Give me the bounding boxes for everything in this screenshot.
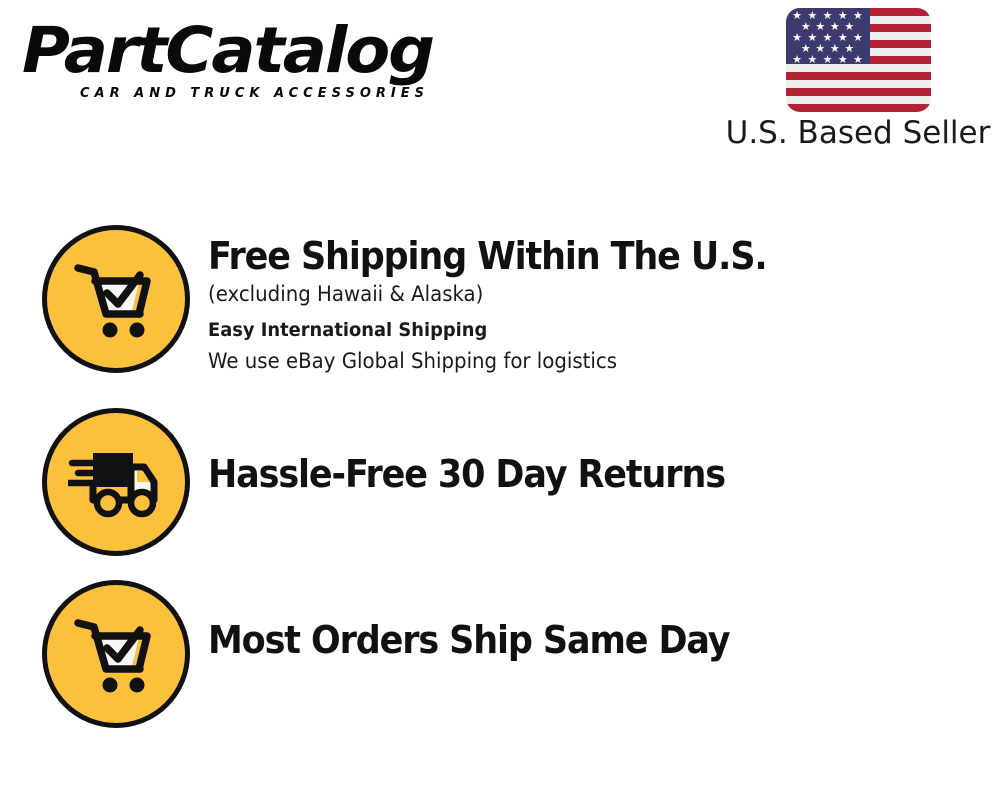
us-based-seller-badge: ★★★★★ ★★★★ ★★★★★ ★★★★ ★★★★★ U.S. Based S…	[728, 8, 988, 152]
brand-logo[interactable]: PartCatalog CAR AND TRUCK ACCESSORIES	[22, 18, 492, 116]
brand-tagline: CAR AND TRUCK ACCESSORIES	[80, 86, 492, 102]
feature-text-block: Most Orders Ship Same Day	[190, 575, 1000, 663]
feature-text-block: Hassle-Free 30 Day Returns	[190, 403, 1000, 497]
feature-subtitle: (excluding Hawaii & Alaska)	[208, 279, 952, 309]
shopping-cart-check-icon	[42, 580, 190, 728]
flag-canton: ★★★★★ ★★★★ ★★★★★ ★★★★ ★★★★★	[786, 8, 870, 64]
feature-title: Free Shipping Within The U.S.	[208, 233, 937, 279]
list-item: Most Orders Ship Same Day	[0, 575, 1000, 725]
feature-sub-detail: We use eBay Global Shipping for logistic…	[208, 346, 952, 376]
shopping-cart-check-icon	[42, 225, 190, 373]
delivery-truck-icon	[42, 408, 190, 556]
feature-list: Free Shipping Within The U.S. (excluding…	[0, 225, 1000, 725]
list-item: Hassle-Free 30 Day Returns	[0, 403, 1000, 575]
feature-title: Most Orders Ship Same Day	[208, 617, 937, 663]
us-flag-icon: ★★★★★ ★★★★ ★★★★★ ★★★★ ★★★★★	[786, 8, 931, 112]
feature-text-block: Free Shipping Within The U.S. (excluding…	[190, 225, 1000, 376]
feature-sub-heading: Easy International Shipping	[208, 315, 952, 346]
brand-wordmark: PartCatalog	[22, 18, 511, 84]
us-based-seller-label: U.S. Based Seller	[726, 114, 991, 152]
list-item: Free Shipping Within The U.S. (excluding…	[0, 225, 1000, 403]
page-header: PartCatalog CAR AND TRUCK ACCESSORIES ★★…	[0, 0, 1000, 170]
feature-title: Hassle-Free 30 Day Returns	[208, 451, 937, 497]
